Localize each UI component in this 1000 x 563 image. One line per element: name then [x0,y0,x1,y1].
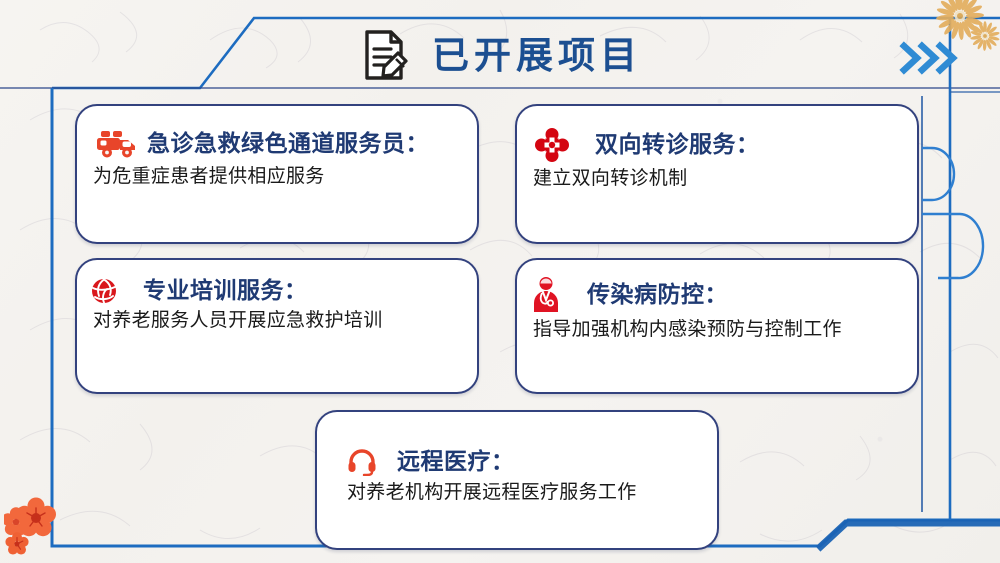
doctor-icon [531,276,561,314]
card-title-row: 急诊急救绿色通道服务员： [91,128,491,160]
card-emergency-green-channel[interactable]: 急诊急救绿色通道服务员： 为危重症患者提供相应服务 [75,104,479,244]
card-body: 对养老服务人员开展应急救护培训 [91,309,491,333]
plum-blossom-flowers [4,492,74,560]
medical-cross-icon [535,128,569,162]
ambulance-icon [95,128,137,160]
card-title: 急诊急救绿色通道服务员： [147,131,429,156]
headset-icon [347,448,377,476]
card-body: 建立双向转诊机制 [531,167,931,191]
document-edit-icon [358,27,414,83]
card-two-way-referral[interactable]: 双向转诊服务： 建立双向转诊机制 [515,104,919,244]
card-title-row: 双向转诊服务： [531,128,931,162]
card-title-row: 远程医疗： [347,448,747,476]
triple-chevron-right-icon [898,40,962,76]
card-body: 对养老机构开展远程医疗服务工作 [347,481,747,505]
card-body: 为危重症患者提供相应服务 [91,165,491,189]
card-infectious-disease-control[interactable]: 传染病防控： 指导加强机构内感染预防与控制工作 [515,258,919,394]
slide-header: 已开展项目 [0,22,1000,88]
card-body: 指导加强机构内感染预防与控制工作 [531,318,931,342]
card-telemedicine[interactable]: 远程医疗： 对养老机构开展远程医疗服务工作 [315,410,719,550]
card-title: 双向转诊服务： [595,132,760,157]
page-title: 已开展项目 [432,37,642,74]
card-title: 专业培训服务： [143,278,308,303]
slide-canvas: 已开展项目 [0,0,1000,563]
card-professional-training[interactable]: 专业培训服务： 对养老服务人员开展应急救护培训 [75,258,479,394]
card-title-row: 传染病防控： [531,276,931,314]
card-title: 传染病防控： [587,282,728,307]
training-globe-icon [91,278,117,304]
card-title: 远程医疗： [397,449,515,474]
card-title-row: 专业培训服务： [91,278,491,304]
